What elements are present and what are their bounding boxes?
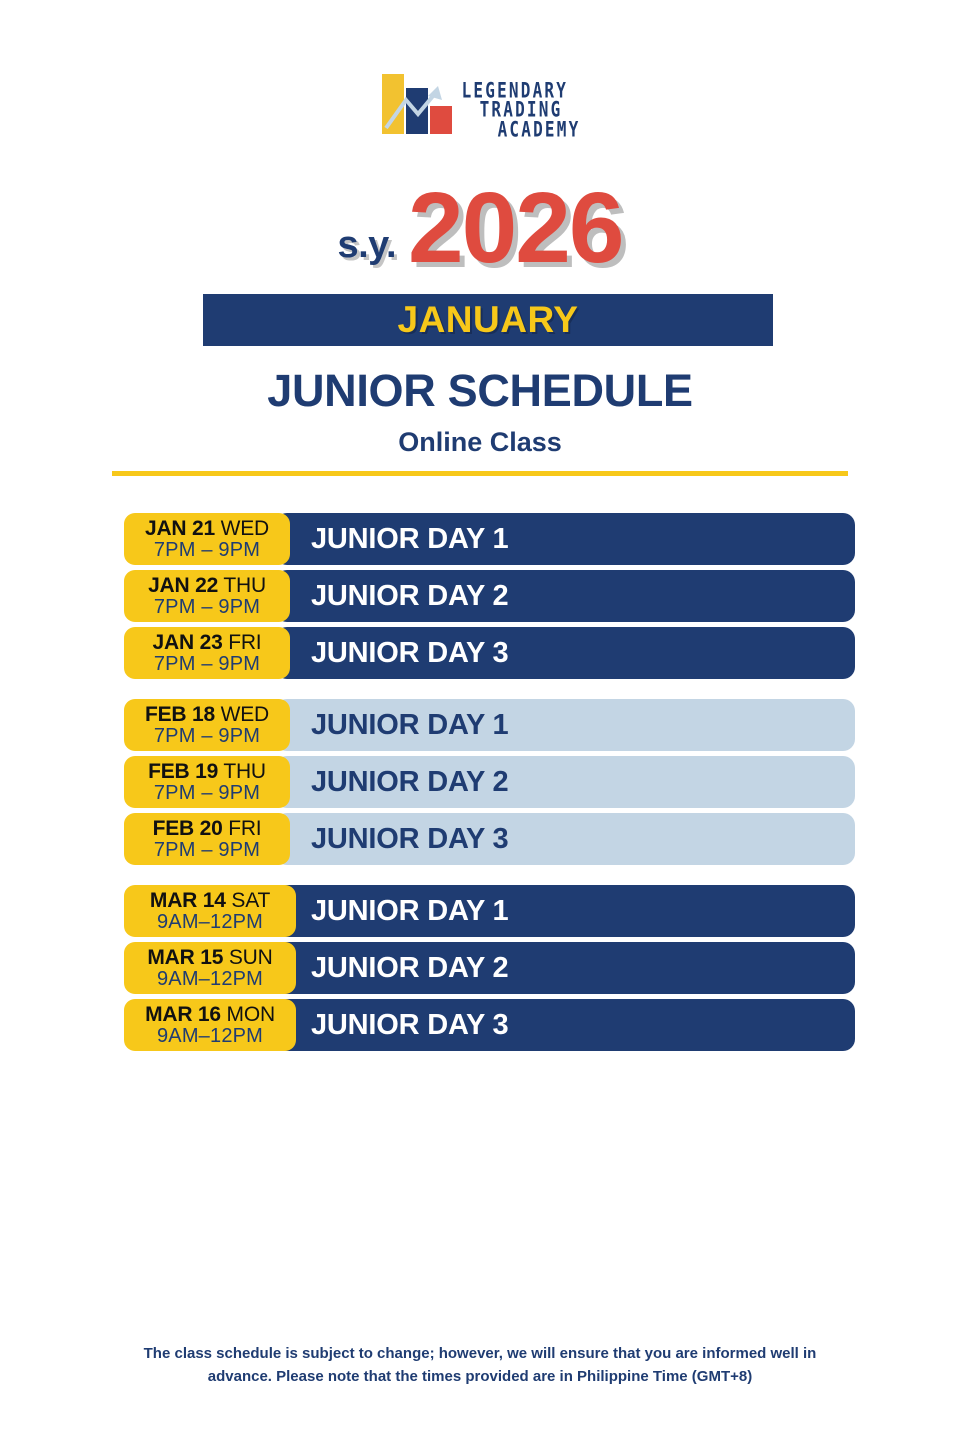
date-weekday: MON xyxy=(227,1003,275,1026)
date-weekday: SUN xyxy=(229,946,273,969)
month-banner-label: JANUARY xyxy=(398,299,579,341)
session-label: JUNIOR DAY 3 xyxy=(275,1009,508,1042)
schedule-row[interactable]: JUNIOR DAY 2FEB 19 THU7PM – 9PM xyxy=(0,756,960,808)
session-bar[interactable]: JUNIOR DAY 1 xyxy=(275,699,855,751)
schedule-row[interactable]: JUNIOR DAY 2MAR 15 SUN9AM–12PM xyxy=(0,942,960,994)
date-text: FEB 18 WED xyxy=(145,704,269,725)
date-month-day: MAR 14 xyxy=(150,889,226,912)
title-divider xyxy=(112,471,848,476)
date-text: MAR 14 SAT xyxy=(150,890,270,911)
session-time: 9AM–12PM xyxy=(157,1026,263,1046)
date-weekday: SAT xyxy=(231,889,270,912)
brand-word-3: ACADEMY xyxy=(462,117,581,142)
date-pill[interactable]: FEB 19 THU7PM – 9PM xyxy=(124,756,290,808)
session-time: 7PM – 9PM xyxy=(154,540,260,560)
date-month-day: MAR 15 xyxy=(147,946,223,969)
date-pill[interactable]: MAR 15 SUN9AM–12PM xyxy=(124,942,296,994)
date-month-day: JAN 22 xyxy=(148,574,218,597)
date-pill[interactable]: FEB 18 WED7PM – 9PM xyxy=(124,699,290,751)
session-time: 7PM – 9PM xyxy=(154,840,260,860)
date-text: JAN 22 THU xyxy=(148,575,266,596)
schedule-row[interactable]: JUNIOR DAY 3FEB 20 FRI7PM – 9PM xyxy=(0,813,960,865)
session-label: JUNIOR DAY 3 xyxy=(275,637,508,670)
session-bar[interactable]: JUNIOR DAY 2 xyxy=(275,942,855,994)
date-weekday: THU xyxy=(223,574,266,597)
schedule-group-feb: JUNIOR DAY 1FEB 18 WED7PM – 9PMJUNIOR DA… xyxy=(0,699,960,865)
session-time: 7PM – 9PM xyxy=(154,597,260,617)
date-month-day: JAN 23 xyxy=(153,631,223,654)
date-text: FEB 19 THU xyxy=(148,761,266,782)
session-time: 9AM–12PM xyxy=(157,912,263,932)
date-pill[interactable]: JAN 22 THU7PM – 9PM xyxy=(124,570,290,622)
date-month-day: JAN 21 xyxy=(145,517,215,540)
date-pill[interactable]: MAR 14 SAT9AM–12PM xyxy=(124,885,296,937)
session-bar[interactable]: JUNIOR DAY 2 xyxy=(275,756,855,808)
page-title: JUNIOR SCHEDULE xyxy=(0,365,960,417)
date-text: MAR 16 MON xyxy=(145,1004,275,1025)
schedule-row[interactable]: JUNIOR DAY 1FEB 18 WED7PM – 9PM xyxy=(0,699,960,751)
session-bar[interactable]: JUNIOR DAY 3 xyxy=(275,627,855,679)
brand-logo: LEGENDARY TRADING ACADEMY xyxy=(0,62,960,144)
legendary-trading-academy-logo-icon xyxy=(380,62,456,144)
session-bar[interactable]: JUNIOR DAY 2 xyxy=(275,570,855,622)
session-time: 7PM – 9PM xyxy=(154,783,260,803)
date-text: MAR 15 SUN xyxy=(147,947,272,968)
session-time: 7PM – 9PM xyxy=(154,654,260,674)
school-year-block: s.y. 2026 xyxy=(0,178,960,278)
date-pill[interactable]: MAR 16 MON9AM–12PM xyxy=(124,999,296,1051)
date-weekday: WED xyxy=(221,703,269,726)
session-bar[interactable]: JUNIOR DAY 1 xyxy=(275,885,855,937)
schedule-poster: LEGENDARY TRADING ACADEMY s.y. 2026 JANU… xyxy=(0,0,960,1440)
session-bar[interactable]: JUNIOR DAY 1 xyxy=(275,513,855,565)
brand-wordmark: LEGENDARY TRADING ACADEMY xyxy=(462,85,581,144)
session-bar[interactable]: JUNIOR DAY 3 xyxy=(275,999,855,1051)
footer-disclaimer: The class schedule is subject to change;… xyxy=(0,1343,960,1388)
date-weekday: THU xyxy=(223,760,266,783)
date-pill[interactable]: JAN 21 WED7PM – 9PM xyxy=(124,513,290,565)
schedule-row[interactable]: JUNIOR DAY 1JAN 21 WED7PM – 9PM xyxy=(0,513,960,565)
date-weekday: FRI xyxy=(228,817,261,840)
schedule-group-mar: JUNIOR DAY 1MAR 14 SAT9AM–12PMJUNIOR DAY… xyxy=(0,885,960,1051)
schedule-row[interactable]: JUNIOR DAY 2JAN 22 THU7PM – 9PM xyxy=(0,570,960,622)
date-pill[interactable]: JAN 23 FRI7PM – 9PM xyxy=(124,627,290,679)
session-bar[interactable]: JUNIOR DAY 3 xyxy=(275,813,855,865)
session-label: JUNIOR DAY 1 xyxy=(275,895,508,928)
date-weekday: WED xyxy=(221,517,269,540)
schedule-row[interactable]: JUNIOR DAY 3JAN 23 FRI7PM – 9PM xyxy=(0,627,960,679)
date-month-day: FEB 20 xyxy=(153,817,223,840)
date-text: FEB 20 FRI xyxy=(153,818,262,839)
schedule-list: JUNIOR DAY 1JAN 21 WED7PM – 9PMJUNIOR DA… xyxy=(0,513,960,1051)
date-text: JAN 21 WED xyxy=(145,518,269,539)
page-subtitle: Online Class xyxy=(0,427,960,458)
session-label: JUNIOR DAY 2 xyxy=(275,766,508,799)
schedule-row[interactable]: JUNIOR DAY 1MAR 14 SAT9AM–12PM xyxy=(0,885,960,937)
schedule-group-jan: JUNIOR DAY 1JAN 21 WED7PM – 9PMJUNIOR DA… xyxy=(0,513,960,679)
session-time: 7PM – 9PM xyxy=(154,726,260,746)
date-weekday: FRI xyxy=(228,631,261,654)
session-label: JUNIOR DAY 1 xyxy=(275,523,508,556)
session-label: JUNIOR DAY 1 xyxy=(275,709,508,742)
session-time: 9AM–12PM xyxy=(157,969,263,989)
date-month-day: FEB 19 xyxy=(148,760,218,783)
sy-prefix: s.y. xyxy=(337,224,396,278)
schedule-row[interactable]: JUNIOR DAY 3MAR 16 MON9AM–12PM xyxy=(0,999,960,1051)
month-banner: JANUARY xyxy=(203,294,773,346)
date-text: JAN 23 FRI xyxy=(153,632,262,653)
year-value: 2026 xyxy=(408,178,622,278)
session-label: JUNIOR DAY 2 xyxy=(275,952,508,985)
date-pill[interactable]: FEB 20 FRI7PM – 9PM xyxy=(124,813,290,865)
date-month-day: FEB 18 xyxy=(145,703,215,726)
date-month-day: MAR 16 xyxy=(145,1003,221,1026)
session-label: JUNIOR DAY 2 xyxy=(275,580,508,613)
session-label: JUNIOR DAY 3 xyxy=(275,823,508,856)
